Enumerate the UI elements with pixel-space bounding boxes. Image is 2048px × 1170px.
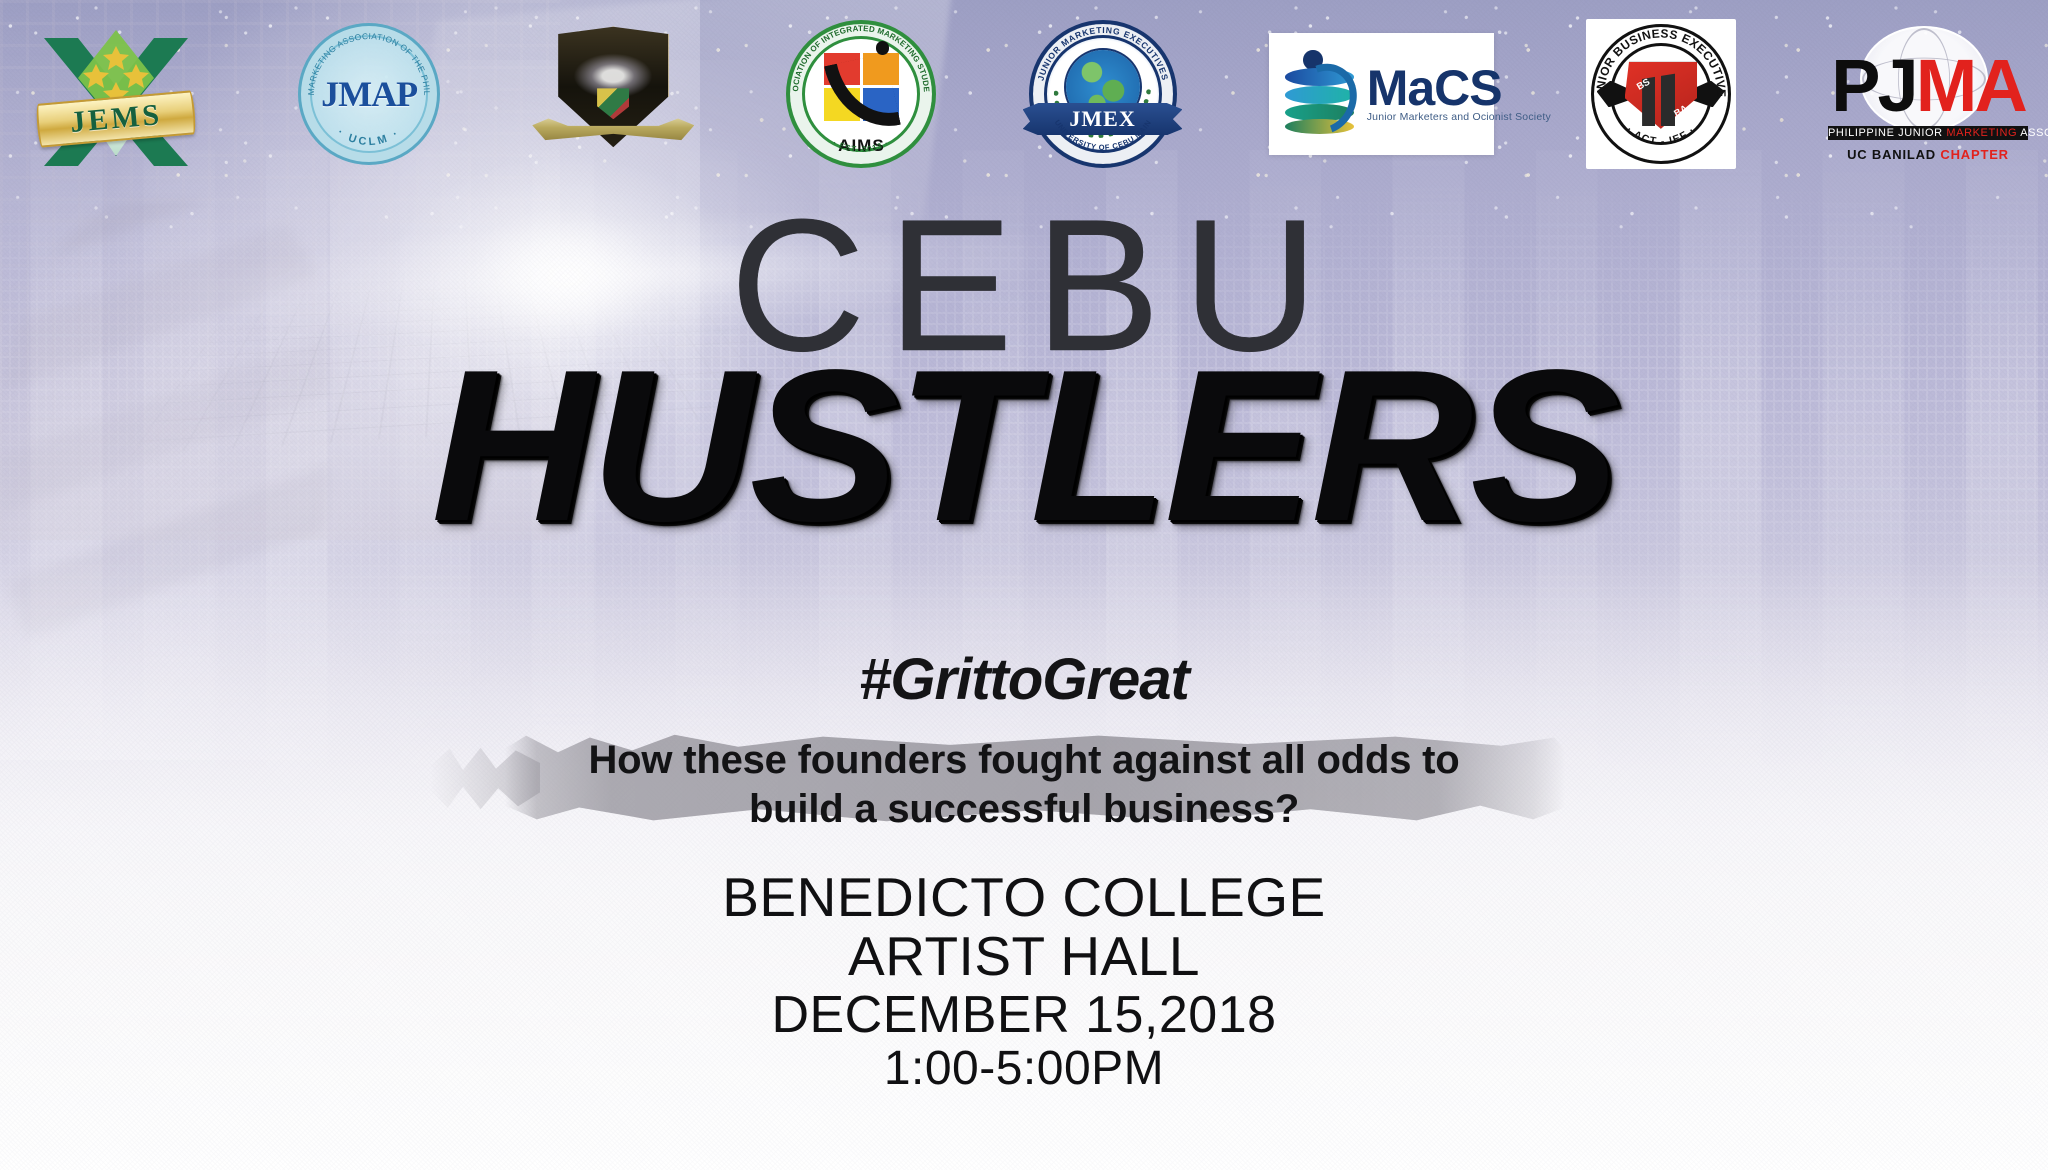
jbe-shield-text-left: BS xyxy=(1635,77,1652,93)
tagline-section: How these founders fought against all od… xyxy=(0,724,2048,846)
pjma-chapter-bar: UC BANILAD CHAPTER xyxy=(1844,147,2012,162)
jems-acronym: JEMS xyxy=(69,98,164,140)
macs-full-name: Junior Marketers and Ocionist Society xyxy=(1367,111,1551,123)
logo-jbe: JUNIOR BUSINESS EXECUTIVES · ACT - IEF ·… xyxy=(1586,19,1736,169)
tagline-line-1: How these founders fought against all od… xyxy=(0,736,2048,785)
svg-text:ASSOCIATION OF INTEGRATED MARK: ASSOCIATION OF INTEGRATED MARKETING STUD… xyxy=(786,20,931,93)
jbe-shield-text-right: BA xyxy=(1672,103,1690,119)
pjma-full-name-bar: PHILIPPINE JUNIOR MARKETING ASSOCIATION xyxy=(1828,126,2028,140)
macs-wordmark: MaCS Junior Marketers and Ocionist Socie… xyxy=(1367,65,1551,123)
aims-arc-text: ASSOCIATION OF INTEGRATED MARKETING STUD… xyxy=(786,20,936,168)
svg-text:JUNIOR BUSINESS EXECUTIVES: JUNIOR BUSINESS EXECUTIVES xyxy=(1594,27,1728,98)
logo-pjma: PJMA PHILIPPINE JUNIOR MARKETING ASSOCIA… xyxy=(1828,26,2028,162)
logo-aims: AIMS ASSOCIATION OF INTEGRATED MARKETING… xyxy=(786,20,936,168)
pjma-bar-part3: ASSOCIATION xyxy=(2017,127,2048,139)
event-hashtag: #GrittoGreat xyxy=(0,646,2048,713)
event-poster: JEMS JMAP JUNIOR MARKETING ASSOCIATION O… xyxy=(0,0,2048,1170)
pjma-acronym-black: PJ xyxy=(1831,44,1916,127)
pjma-chapter-part1: UC BANILAD xyxy=(1847,147,1936,162)
tagline-line-2: build a successful business? xyxy=(0,785,2048,834)
logo-jmex: JMEX JUNIOR MARKETING EXECUTIVES UNIVERS… xyxy=(1029,20,1177,168)
jbe-seal-ring: JUNIOR BUSINESS EXECUTIVES · ACT - IEF ·… xyxy=(1591,24,1731,164)
svg-text:· EST. 2013 ·: · EST. 2013 · xyxy=(832,138,891,154)
svg-text:· ACT - IEF ·: · ACT - IEF · xyxy=(1624,124,1698,148)
pjma-acronym-red: MA xyxy=(1916,44,2025,127)
event-date: DECEMBER 15,2018 xyxy=(0,987,2048,1043)
poster-title-block: CEBU HUSTLERS xyxy=(0,196,2048,538)
logo-jems: JEMS xyxy=(26,20,206,168)
pjma-wordmark: PJMA xyxy=(1828,56,2028,117)
logo-macs: MaCS Junior Marketers and Ocionist Socie… xyxy=(1269,33,1494,155)
event-time: 1:00-5:00PM xyxy=(0,1043,2048,1095)
venue-details-block: BENEDICTO COLLEGE ARTIST HALL DECEMBER 1… xyxy=(0,868,2048,1095)
venue-hall: ARTIST HALL xyxy=(0,927,2048,986)
svg-text:· UCLM ·: · UCLM · xyxy=(335,126,403,148)
pjma-chapter-part2: CHAPTER xyxy=(1936,147,2009,162)
macs-acronym: MaCS xyxy=(1367,65,1551,111)
svg-text:JUNIOR MARKETING ASSOCIATION O: JUNIOR MARKETING ASSOCIATION OF THE PHIL… xyxy=(298,23,432,96)
jmap-arc-text: JUNIOR MARKETING ASSOCIATION OF THE PHIL… xyxy=(298,23,440,165)
tagline-text: How these founders fought against all od… xyxy=(0,736,2048,834)
partner-logos-row: JEMS JMAP JUNIOR MARKETING ASSOCIATION O… xyxy=(26,18,2028,170)
svg-text:JUNIOR MARKETING EXECUTIVES: JUNIOR MARKETING EXECUTIVES xyxy=(1035,25,1170,82)
svg-text:UNIVERSITY OF CEBU MAIN: UNIVERSITY OF CEBU MAIN xyxy=(1052,118,1153,152)
logo-eagle-shield xyxy=(532,24,694,164)
jmex-arc-text: JUNIOR MARKETING EXECUTIVES UNIVERSITY O… xyxy=(1029,20,1177,168)
pjma-bar-part2: MARKETING xyxy=(1946,127,2017,139)
macs-mark-icon xyxy=(1279,48,1361,140)
jbe-arc-text: JUNIOR BUSINESS EXECUTIVES · ACT - IEF ·… xyxy=(1594,27,1728,161)
pjma-bar-part1: PHILIPPINE JUNIOR xyxy=(1828,127,1946,139)
logo-jmap: JMAP JUNIOR MARKETING ASSOCIATION OF THE… xyxy=(298,23,440,165)
venue-name: BENEDICTO COLLEGE xyxy=(0,868,2048,927)
title-line-hustlers: HUSTLERS xyxy=(0,353,2048,539)
